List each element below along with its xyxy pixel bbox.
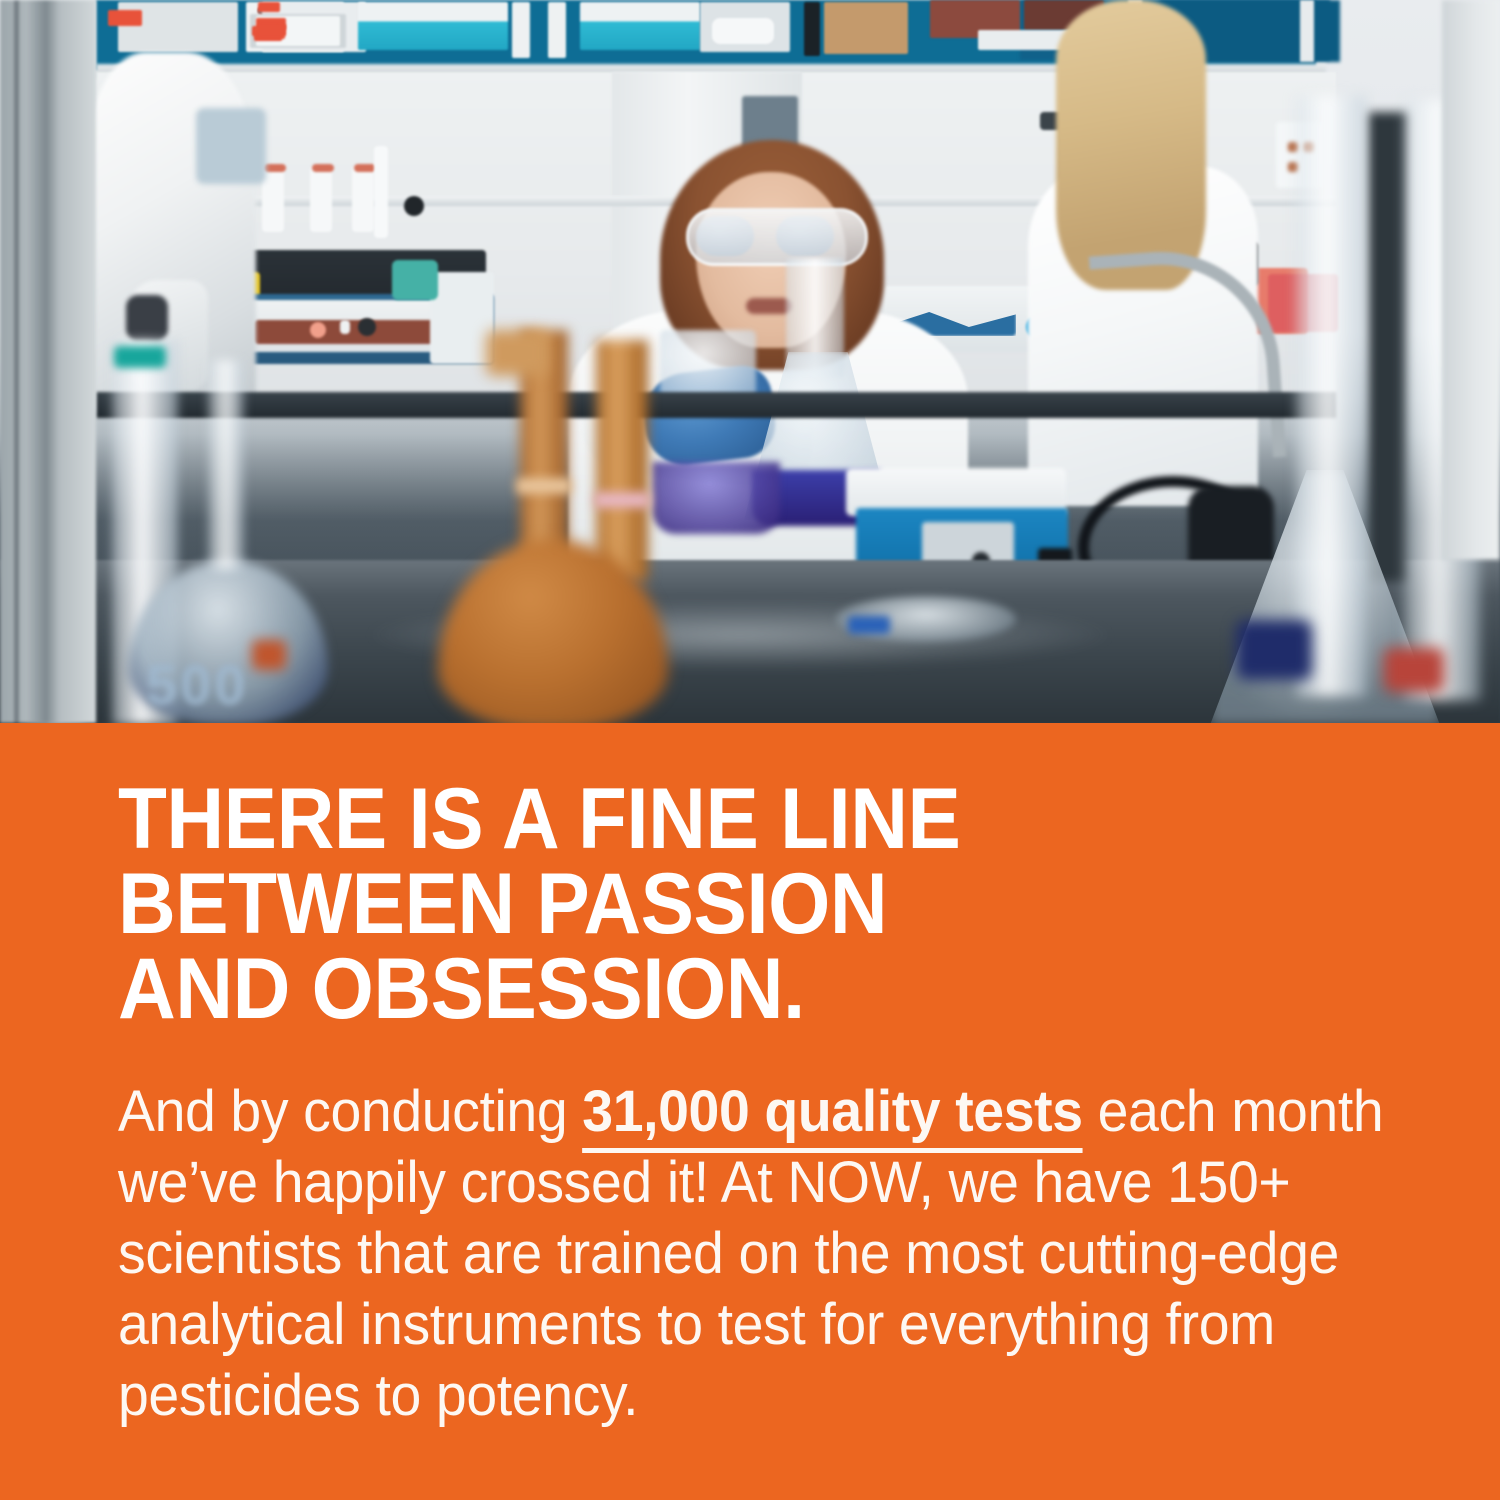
hair bbox=[1056, 0, 1206, 290]
blue-stir-bar bbox=[848, 616, 890, 634]
shelf-label-red bbox=[258, 2, 280, 12]
tube-cap bbox=[354, 164, 376, 172]
graduation-ring bbox=[594, 492, 650, 508]
test-tube bbox=[352, 166, 374, 232]
shelf-bottle bbox=[712, 18, 774, 44]
instrument-indicator bbox=[310, 322, 326, 338]
test-tube bbox=[374, 146, 388, 238]
graduation-ring bbox=[516, 478, 572, 494]
shelf-divider bbox=[512, 2, 530, 58]
door-frame-left bbox=[0, 0, 96, 723]
promo-graphic: 500 THERE IS A FINE LINE BETWEEN PASSION… bbox=[0, 0, 1500, 1500]
tube-cap bbox=[264, 164, 286, 172]
back-bench-surface bbox=[96, 392, 1336, 418]
page-title: THERE IS A FINE LINE BETWEEN PASSION AND… bbox=[118, 777, 1318, 1032]
tube-cap bbox=[312, 164, 334, 172]
clamp-knob bbox=[404, 196, 424, 216]
shelf-label-red bbox=[108, 10, 142, 26]
shelf-divider bbox=[548, 2, 566, 58]
instrument-knob bbox=[358, 318, 376, 336]
body-lead: And by conducting bbox=[118, 1079, 582, 1144]
test-tube bbox=[310, 166, 332, 232]
shelf-shadow bbox=[804, 2, 820, 56]
shelf-box-cyan bbox=[580, 2, 700, 50]
shelf-box-cyan bbox=[358, 2, 508, 50]
cabinet-divider bbox=[1300, 0, 1314, 62]
flask-neck bbox=[208, 360, 244, 570]
dark-column bbox=[1368, 112, 1408, 582]
scientist-right bbox=[1000, 0, 1270, 520]
hero-photo: 500 bbox=[0, 0, 1500, 723]
scientist-left-hand bbox=[126, 295, 168, 341]
bottle bbox=[430, 272, 494, 364]
shelf-label-red bbox=[258, 24, 286, 36]
body-paragraph: And by conducting 31,000 quality tests e… bbox=[118, 1076, 1388, 1431]
flask-liquid-purple bbox=[652, 462, 780, 534]
tube-cap-teal bbox=[114, 346, 166, 368]
scientist-left-collar bbox=[196, 108, 266, 184]
blue-liquid-foreground bbox=[1236, 620, 1312, 680]
shelf-carton bbox=[824, 2, 908, 54]
amber-flask-mouth bbox=[486, 330, 548, 376]
wall-edge-right bbox=[1442, 0, 1500, 560]
foreground-glass-cylinder bbox=[1296, 96, 1366, 696]
stat-emphasis: 31,000 quality tests bbox=[582, 1079, 1082, 1153]
teal-glassware bbox=[392, 260, 438, 300]
beaker bbox=[660, 330, 756, 398]
flask-label-orange bbox=[252, 640, 286, 670]
amber-glassware-neck bbox=[596, 340, 648, 580]
instrument-button bbox=[340, 320, 350, 334]
red-accent-foreground bbox=[1384, 648, 1444, 692]
orange-message-panel: THERE IS A FINE LINE BETWEEN PASSION AND… bbox=[0, 723, 1500, 1500]
instrument-wave-graphic bbox=[254, 320, 454, 344]
